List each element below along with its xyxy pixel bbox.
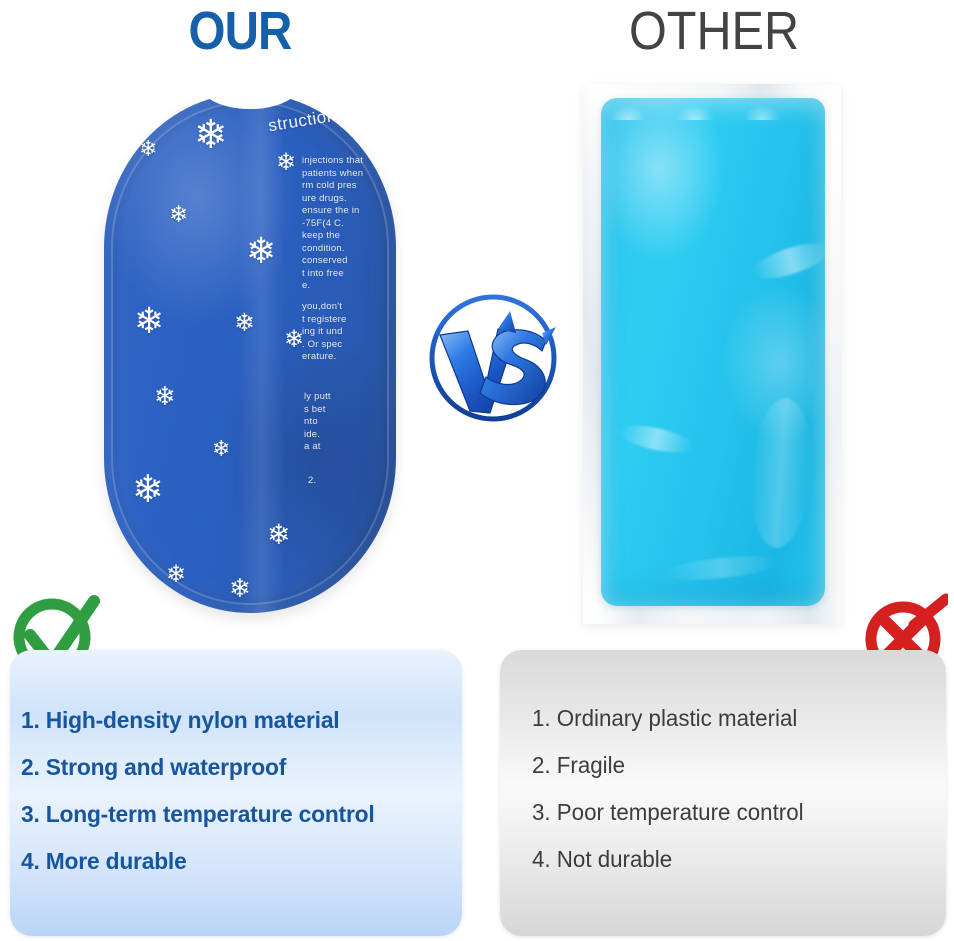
pack-printed-line: condition. [302, 243, 363, 256]
nylon-pack-body: ❄ ❄ ❄ ❄ ❄ ❄ ❄ ❄ ❄ ❄ ❄ ❄ ❄ ❄ struction in… [104, 93, 396, 613]
pack-printed-line: ure drugs. [302, 193, 363, 206]
product-comparison-stage: ❄ ❄ ❄ ❄ ❄ ❄ ❄ ❄ ❄ ❄ ❄ ❄ ❄ ❄ struction in… [0, 62, 954, 632]
feature-item: 1. High-density nylon material [21, 697, 437, 744]
pack-printed-line: nto [304, 416, 331, 429]
feature-item: 1. Ordinary plastic material [532, 695, 922, 742]
feature-item: 3. Poor temperature control [532, 789, 922, 836]
pack-printed-line: t registere [302, 314, 346, 327]
pack-printed-line: . Or spec [302, 339, 346, 352]
feature-item: 4. More durable [21, 838, 437, 885]
pack-printed-block-1: injections that patients when rm cold pr… [302, 155, 363, 293]
snowflake-icon: ❄ [134, 303, 164, 339]
pack-printed-line: conserved [302, 255, 363, 268]
product-image-other [583, 84, 841, 624]
pack-printed-block-3: ly putt s bet nto ide. a at [304, 391, 331, 454]
gel-fill [601, 98, 825, 606]
gel-ripple [749, 236, 825, 285]
feature-list-ours: 1. High-density nylon material 2. Strong… [10, 650, 462, 936]
pack-printed-line: you,don't [302, 301, 346, 314]
snowflake-icon: ❄ [276, 151, 296, 175]
snowflake-icon: ❄ [194, 115, 228, 155]
snowflake-icon: ❄ [234, 311, 255, 336]
snowflake-icon: ❄ [139, 138, 157, 160]
feature-card-ours: 1. High-density nylon material 2. Strong… [10, 650, 462, 936]
pack-printed-line: keep the [302, 230, 363, 243]
gel-ripple [746, 396, 816, 550]
pack-printed-line: ing it und [302, 326, 346, 339]
pack-printed-line: ensure the in [302, 205, 363, 218]
snowflake-icon: ❄ [212, 438, 230, 460]
pack-printed-line: ide. [304, 429, 331, 442]
pack-printed-line: s bet [304, 404, 331, 417]
header-ours: OUR [29, 0, 451, 62]
pack-printed-line: -75F(4 C. [302, 218, 363, 231]
snowflake-icon: ❄ [169, 203, 188, 226]
pack-printed-line: a at [304, 441, 331, 454]
feature-item: 3. Long-term temperature control [21, 791, 437, 838]
gel-ripple [660, 552, 781, 584]
pack-printed-line: rm cold pres [302, 180, 363, 193]
snowflake-icon: ❄ [166, 563, 186, 587]
pack-printed-line: t into free [302, 268, 363, 281]
pack-printed-line: ly putt [304, 391, 331, 404]
pack-printed-block-4: 2. [308, 475, 316, 488]
snowflake-icon: ❄ [267, 521, 290, 549]
product-image-ours: ❄ ❄ ❄ ❄ ❄ ❄ ❄ ❄ ❄ ❄ ❄ ❄ ❄ ❄ struction in… [104, 93, 396, 613]
pack-printed-line: e. [302, 280, 363, 293]
gel-top-ripples [601, 98, 825, 120]
snowflake-icon: ❄ [229, 575, 251, 601]
feature-list-other: 1. Ordinary plastic material 2. Fragile … [500, 650, 946, 936]
feature-item: 2. Strong and waterproof [21, 744, 437, 791]
header-other: OTHER [498, 0, 930, 62]
snowflake-icon: ❄ [132, 471, 164, 509]
pack-printed-line: erature. [302, 351, 346, 364]
pack-printed-block-2: you,don't t registere ing it und . Or sp… [302, 301, 346, 364]
snowflake-icon: ❄ [154, 383, 176, 409]
gel-ripple [618, 421, 695, 458]
feature-item: 2. Fragile [532, 742, 922, 789]
pack-printed-line: patients when [302, 168, 363, 181]
snowflake-icon: ❄ [246, 233, 276, 269]
feature-card-other: 1. Ordinary plastic material 2. Fragile … [500, 650, 946, 936]
vs-badge [424, 289, 562, 427]
feature-item: 4. Not durable [532, 836, 922, 883]
pack-printed-line: 2. [308, 475, 316, 488]
pack-printed-line: injections that [302, 155, 363, 168]
